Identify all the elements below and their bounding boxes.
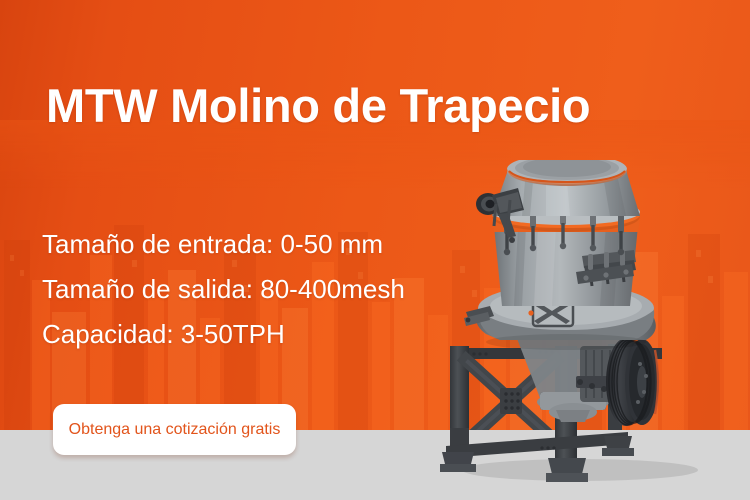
spec-input-size: Tamaño de entrada: 0-50 mm (42, 222, 405, 267)
spec-output-size: Tamaño de salida: 80-400mesh (42, 267, 405, 312)
get-free-quote-button[interactable]: Obtenga una cotización gratis (53, 404, 296, 455)
page-title: MTW Molino de Trapecio (46, 78, 590, 133)
spec-list: Tamaño de entrada: 0-50 mm Tamaño de sal… (42, 222, 405, 357)
promo-banner: MTW Molino de Trapecio Tamaño de entrada… (0, 0, 750, 500)
get-free-quote-label: Obtenga una cotización gratis (69, 421, 281, 439)
spec-capacity: Capacidad: 3-50TPH (42, 312, 405, 357)
